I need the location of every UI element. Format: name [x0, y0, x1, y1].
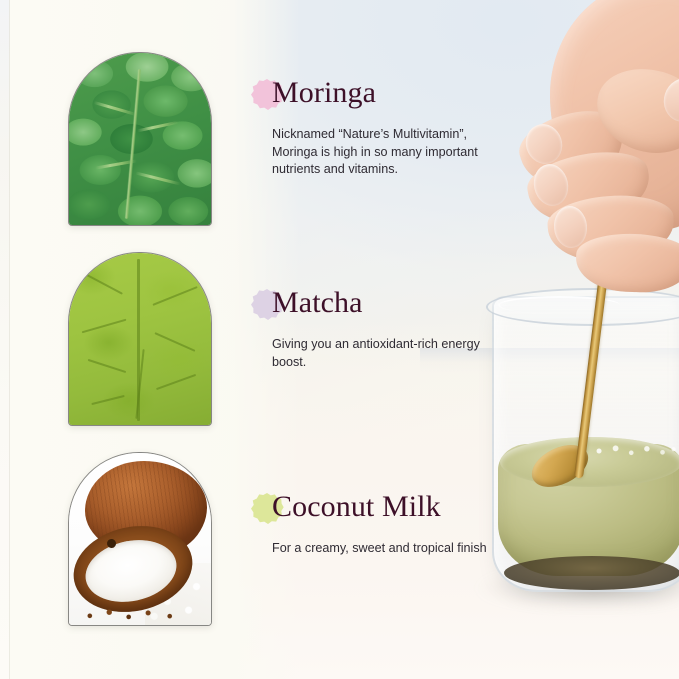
hand — [504, 0, 679, 318]
ingredient-image-matcha — [68, 252, 212, 426]
background-left-edge-strip — [0, 0, 10, 679]
powder-crack — [155, 332, 196, 351]
hand-finger-pinky — [575, 232, 679, 294]
ingredient-image-coconut — [68, 452, 212, 626]
powder-crack — [152, 286, 197, 305]
heading-row-coconut: Coconut Milk — [250, 490, 506, 536]
moringa-leaves-photo — [69, 53, 211, 225]
ingredient-description: Nicknamed “Nature’s Multivitamin”, Morin… — [272, 126, 504, 179]
powder-crack — [85, 273, 123, 294]
powder-crack — [91, 395, 124, 405]
ingredient-name: Matcha — [272, 286, 363, 320]
heading-row-moringa: Moringa — [250, 76, 506, 122]
leaf-stem — [137, 121, 179, 133]
powder-crack — [88, 359, 127, 373]
ingredient-name: Moringa — [272, 76, 376, 110]
liquid-bubbles — [588, 440, 679, 462]
leaf-stem — [124, 69, 141, 219]
ingredient-description: Giving you an antioxidant-rich energy bo… — [272, 336, 504, 371]
ingredient-description: For a creamy, sweet and tropical finish — [272, 540, 504, 558]
ingredient-block-moringa: Moringa Nicknamed “Nature’s Multivitamin… — [250, 76, 506, 179]
matcha-powder-photo — [69, 253, 211, 425]
leaf-stem — [135, 171, 180, 185]
coconut-crumbs — [79, 605, 187, 623]
glass-base — [504, 556, 679, 590]
powder-crack — [156, 374, 196, 390]
infographic-root: Moringa Nicknamed “Nature’s Multivitamin… — [0, 0, 679, 679]
powder-crack — [82, 319, 127, 333]
heading-row-matcha: Matcha — [250, 286, 506, 332]
coconut-photo — [69, 453, 211, 625]
ingredient-name: Coconut Milk — [272, 490, 441, 524]
ingredient-image-moringa — [68, 52, 212, 226]
ingredient-block-coconut: Coconut Milk For a creamy, sweet and tro… — [250, 490, 506, 558]
ingredient-block-matcha: Matcha Giving you an antioxidant-rich en… — [250, 286, 506, 371]
leaf-stem — [93, 101, 136, 116]
